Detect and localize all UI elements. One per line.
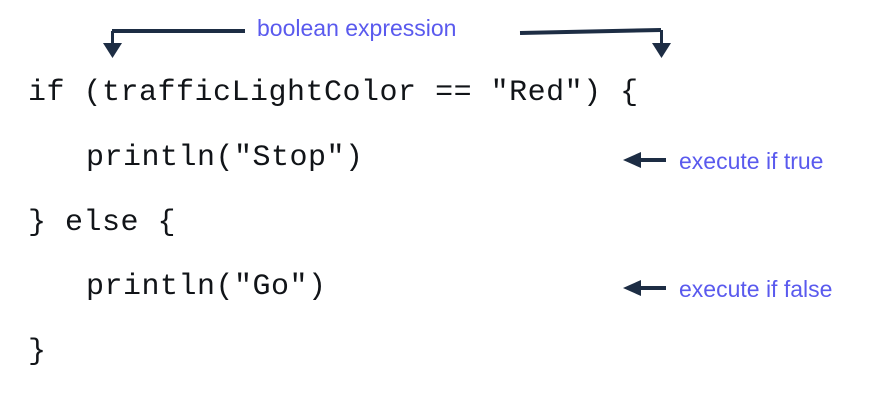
code-line-println-go: println("Go") <box>86 272 327 302</box>
boolean-expression-arrow-left <box>103 31 245 58</box>
annotation-label-boolean-expression: boolean expression <box>257 17 456 40</box>
boolean-expression-arrow-right <box>520 30 671 58</box>
code-line-if-statement: if (trafficLightColor == "Red") { <box>28 78 639 108</box>
annotation-label-execute-if-true: execute if true <box>679 150 823 173</box>
annotated-code-figure: boolean expression execute if true execu… <box>0 0 891 405</box>
arrow-layer <box>0 0 891 405</box>
code-line-println-stop: println("Stop") <box>86 143 364 173</box>
code-line-closing-brace: } <box>28 337 47 367</box>
execute-if-false-arrow <box>623 280 666 296</box>
annotation-label-execute-if-false: execute if false <box>679 278 832 301</box>
code-line-else: } else { <box>28 208 176 238</box>
execute-if-true-arrow <box>623 152 666 168</box>
